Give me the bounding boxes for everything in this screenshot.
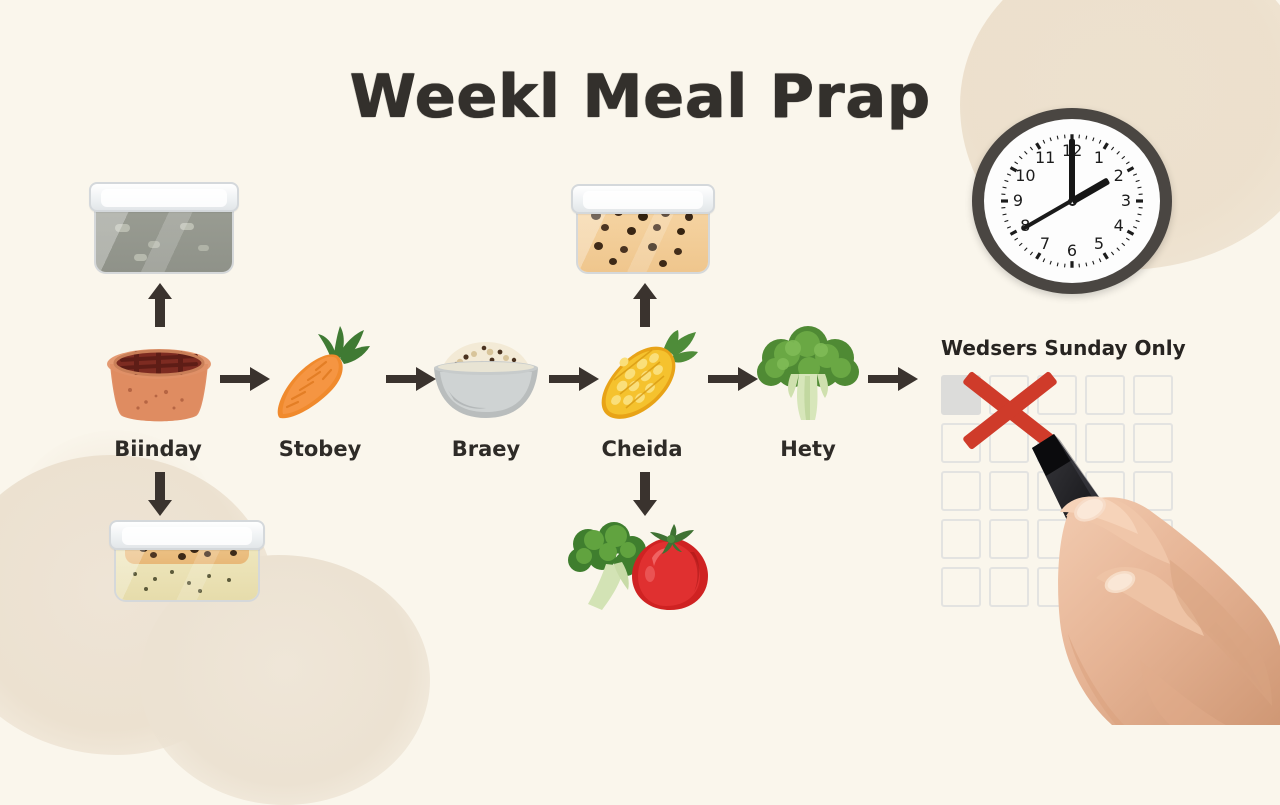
clock-number-3: 3 <box>1116 192 1136 210</box>
broccoli-icon <box>757 326 859 426</box>
clock-number-9: 9 <box>1008 192 1028 210</box>
arrow-up-branch-2 <box>631 281 659 333</box>
arrow-right-1 <box>218 364 274 398</box>
container-lid <box>109 520 265 550</box>
infographic-canvas: Weekl Meal Prap Biinday <box>0 0 1280 720</box>
step-label-5: Hety <box>728 437 888 461</box>
calendar-cell[interactable] <box>1133 375 1173 415</box>
hand-with-marker <box>1020 430 1280 725</box>
calendar-caption: Wedsers Sunday Only <box>941 336 1221 360</box>
step-label-4: Cheida <box>562 437 722 461</box>
calendar-cell[interactable] <box>941 519 981 559</box>
step-label-3: Braey <box>406 437 566 461</box>
calendar-cell[interactable] <box>941 567 981 607</box>
corn-icon <box>594 330 700 426</box>
clock-minute-hand <box>1069 139 1075 201</box>
clock-number-11: 11 <box>1035 149 1055 167</box>
meal-container-gray-icon <box>94 182 234 274</box>
step-label-1: Biinday <box>78 437 238 461</box>
meal-container-quinoa-icon <box>576 184 710 274</box>
wall-clock: 121234567891011 <box>972 108 1172 294</box>
container-lid <box>571 184 715 214</box>
clock-number-1: 1 <box>1089 149 1109 167</box>
clock-number-10: 10 <box>1015 167 1035 185</box>
carrot-icon <box>268 326 372 426</box>
calendar-cell[interactable] <box>1085 375 1125 415</box>
clock-number-6: 6 <box>1062 242 1082 260</box>
background-blob-bottom-left-1 <box>0 455 275 755</box>
meal-container-grain-icon <box>114 520 260 602</box>
broccoli-tomato-icon <box>566 518 716 612</box>
arrow-up-branch-1 <box>146 281 174 333</box>
arrow-down-branch-2 <box>631 470 659 522</box>
clock-number-2: 2 <box>1109 167 1129 185</box>
clock-number-5: 5 <box>1089 235 1109 253</box>
container-lid <box>89 182 239 212</box>
arrow-right-4 <box>706 364 762 398</box>
step-label-2: Stobey <box>240 437 400 461</box>
rice-bowl-icon <box>428 340 544 424</box>
arrow-right-5 <box>866 364 922 398</box>
clock-number-7: 7 <box>1035 235 1055 253</box>
clock-number-4: 4 <box>1109 217 1129 235</box>
arrow-down-branch-1 <box>146 470 174 522</box>
clay-pot-icon <box>104 334 214 422</box>
calendar-cell[interactable] <box>941 471 981 511</box>
